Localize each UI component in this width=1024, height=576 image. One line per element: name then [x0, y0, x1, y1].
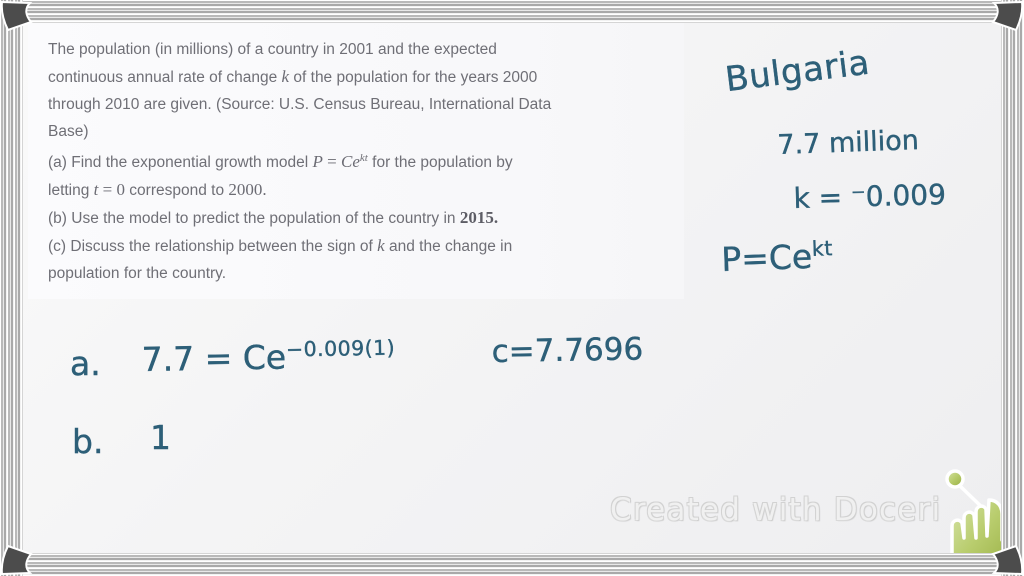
year-2015: 2015. — [460, 208, 498, 227]
part-a-line2-pre: letting — [48, 182, 94, 199]
work-a-exponent: −0.009(1) — [286, 336, 395, 362]
problem-part-a-line-2: letting t = 0 correspond to 2000. — [48, 176, 668, 204]
variable-k-inline: k — [282, 67, 290, 86]
frame-bottom-edge — [0, 553, 1024, 576]
handwriting-model-equation: P=Cekt — [721, 236, 834, 279]
part-a-line2-post: correspond to — [125, 182, 228, 199]
formula-exponent-kt: kt — [360, 152, 368, 164]
work-a-base: 7.7 = Ce — [141, 337, 286, 379]
frame-left-edge — [0, 0, 23, 576]
formula-equals: = — [323, 152, 341, 171]
handwriting-part-a-equation: 7.7 = Ce−0.009(1) — [141, 336, 395, 379]
problem-part-b: (b) Use the model to predict the populat… — [48, 204, 668, 232]
part-b-text: (b) Use the model to predict the populat… — [48, 210, 460, 227]
handwriting-population-value: 7.7 million — [777, 125, 919, 161]
variable-k-part-c: k — [377, 236, 385, 255]
hand-pointer-cursor-icon[interactable] — [942, 466, 1002, 554]
problem-part-a-line-1: (a) Find the exponential growth model P … — [48, 145, 668, 176]
handwriting-part-b-label: b. — [72, 422, 103, 461]
part-a-text-post: for the population by — [368, 154, 513, 171]
problem-intro-line-3: through 2010 are given. (Source: U.S. Ce… — [48, 91, 668, 118]
problem-part-c-line-2: population for the country. — [48, 260, 668, 287]
part-c-text-pre: (c) Discuss the relationship between the… — [48, 238, 377, 255]
handwriting-country-name: Bulgaria — [723, 43, 872, 100]
doceri-screen-recording: The population (in millions) of a countr… — [0, 0, 1024, 576]
handwriting-constant-c-value: c=7.7696 — [491, 331, 643, 370]
formula-Ce: Ce — [341, 152, 360, 171]
intro-line-2-text-a: continuous annual rate of change — [48, 69, 282, 86]
problem-part-c-line-1: (c) Discuss the relationship between the… — [48, 232, 668, 260]
doceri-watermark: Created with Doceri — [610, 492, 941, 528]
equals-sign-t: = — [98, 180, 116, 199]
model-base: P=Ce — [721, 237, 813, 279]
handwriting-part-a-label: a. — [70, 344, 101, 383]
whiteboard-canvas[interactable]: The population (in millions) of a countr… — [22, 22, 1002, 554]
intro-line-2-text-b: of the population for the years 2000 — [289, 69, 537, 86]
year-2000: 2000. — [228, 180, 266, 199]
problem-intro-line-2: continuous annual rate of change k of th… — [48, 63, 668, 91]
problem-intro-line-1: The population (in millions) of a countr… — [48, 36, 668, 63]
handwriting-rate-value: k = ⁻0.009 — [793, 178, 946, 215]
frame-top-edge — [0, 0, 1024, 23]
part-a-text-pre: (a) Find the exponential growth model — [48, 154, 313, 171]
problem-intro-line-4: Base) — [48, 118, 668, 145]
problem-statement-panel: The population (in millions) of a countr… — [28, 22, 684, 299]
formula-P: P — [313, 152, 323, 171]
part-c-text-post: and the change in — [385, 238, 513, 255]
frame-right-edge — [1001, 0, 1024, 576]
model-exponent: kt — [811, 236, 833, 261]
handwriting-part-b-partial-stroke: 1 — [150, 418, 171, 457]
value-zero: 0 — [117, 180, 126, 199]
